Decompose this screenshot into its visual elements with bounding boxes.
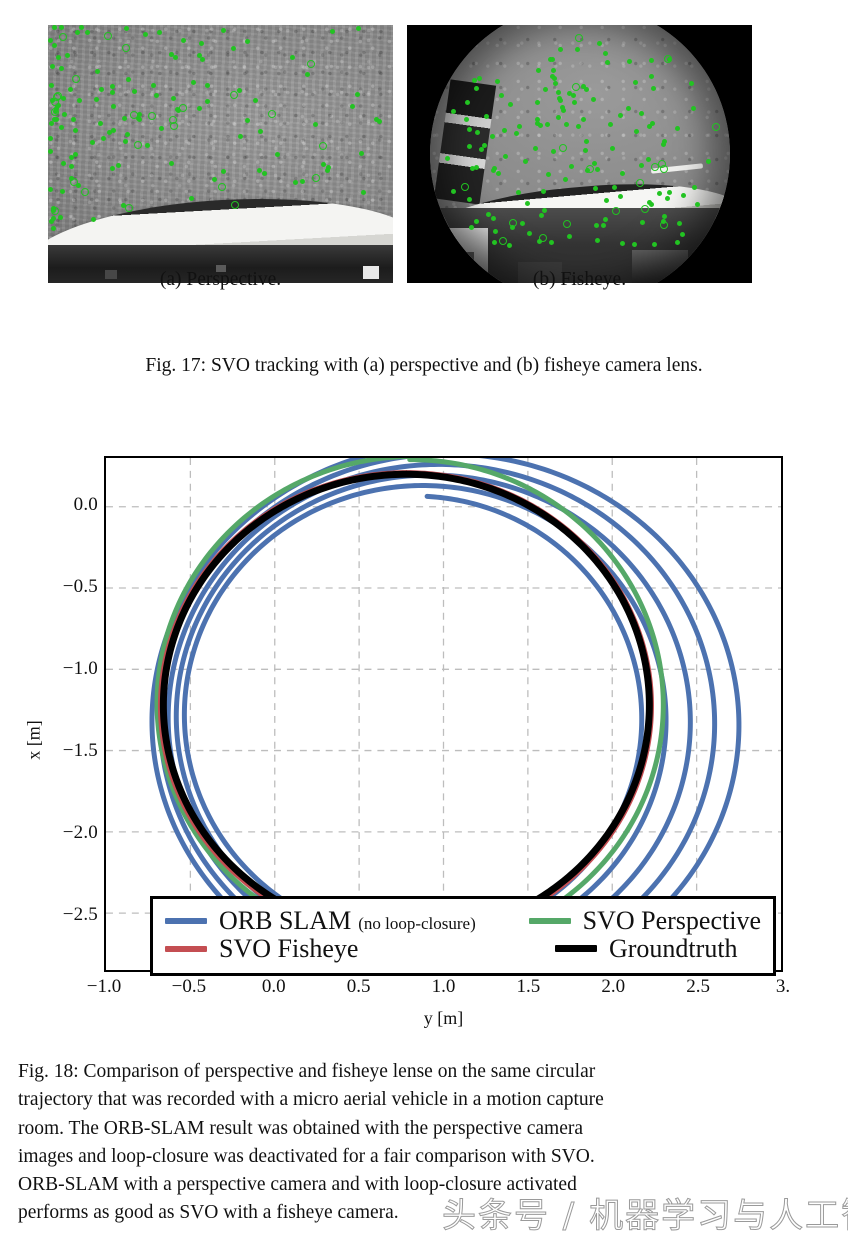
feature-point bbox=[556, 115, 561, 120]
fisheye-camera-image bbox=[407, 25, 752, 283]
feature-point bbox=[571, 93, 576, 98]
feature-point bbox=[469, 225, 474, 230]
feature-point bbox=[253, 98, 258, 103]
y-axis-ticks: 0.0−0.5−1.0−1.5−2.0−2.5 bbox=[0, 456, 98, 972]
feature-point bbox=[584, 87, 589, 92]
feature-point bbox=[499, 237, 507, 245]
feature-point bbox=[545, 122, 550, 127]
legend-label-svo-fisheye: SVO Fisheye bbox=[219, 935, 358, 963]
feature-point bbox=[477, 76, 482, 81]
feature-point bbox=[651, 86, 656, 91]
y-tick-label: −2.0 bbox=[63, 822, 98, 844]
feature-point bbox=[706, 159, 711, 164]
feature-point bbox=[49, 83, 54, 88]
feature-point bbox=[567, 234, 572, 239]
feature-point bbox=[517, 124, 522, 129]
feature-point bbox=[72, 75, 80, 83]
feature-point bbox=[275, 152, 280, 157]
feature-point bbox=[377, 119, 382, 124]
feature-point bbox=[170, 122, 178, 130]
feature-point bbox=[125, 204, 133, 212]
feature-point bbox=[257, 168, 262, 173]
subcaption-b: (b) Fisheye. bbox=[407, 269, 752, 291]
feature-point bbox=[593, 186, 598, 191]
feature-point bbox=[610, 146, 615, 151]
feature-point bbox=[125, 132, 130, 137]
y-tick-label: −1.5 bbox=[63, 740, 98, 762]
feature-point bbox=[104, 32, 112, 40]
feature-point bbox=[641, 205, 649, 213]
feature-point bbox=[646, 157, 651, 162]
y-tick-label: −1.0 bbox=[63, 658, 98, 680]
feature-point bbox=[464, 117, 469, 122]
feature-point bbox=[73, 152, 78, 157]
feature-point bbox=[245, 39, 250, 44]
feature-point bbox=[197, 106, 202, 111]
legend-item-svo-perspective[interactable]: SVO Perspective bbox=[529, 907, 761, 935]
feature-point bbox=[231, 201, 239, 209]
feature-point bbox=[627, 59, 632, 64]
feature-point bbox=[550, 57, 555, 62]
feature-point bbox=[212, 177, 217, 182]
feature-point bbox=[451, 189, 456, 194]
feature-point bbox=[546, 172, 551, 177]
feature-point bbox=[53, 93, 61, 101]
figure-18-caption-line-1: Fig. 18: Comparison of perspective and f… bbox=[18, 1058, 830, 1086]
feature-point bbox=[467, 197, 472, 202]
plot-canvas bbox=[106, 458, 781, 970]
feature-point bbox=[491, 168, 496, 173]
feature-point bbox=[603, 217, 608, 222]
legend-swatch-groundtruth bbox=[555, 945, 597, 952]
feature-point bbox=[94, 97, 99, 102]
feature-point bbox=[527, 231, 532, 236]
feature-point bbox=[542, 208, 547, 213]
legend-row-2: SVO Fisheye Groundtruth bbox=[165, 935, 761, 963]
feature-point bbox=[77, 98, 82, 103]
feature-point bbox=[151, 83, 156, 88]
feature-point bbox=[592, 161, 597, 166]
feature-point bbox=[73, 128, 78, 133]
feature-point bbox=[520, 221, 525, 226]
feature-point bbox=[472, 78, 477, 83]
feature-point bbox=[495, 79, 500, 84]
feature-point bbox=[649, 202, 654, 207]
feature-point bbox=[475, 130, 480, 135]
legend-row-1: ORB SLAM (no loop-closure) SVO Perspecti… bbox=[165, 907, 761, 935]
figure-18-caption-line-2: trajectory that was recorded with a micr… bbox=[18, 1086, 830, 1114]
feature-point bbox=[99, 87, 104, 92]
feature-point bbox=[664, 55, 672, 63]
feature-point bbox=[110, 90, 115, 95]
feature-point bbox=[132, 89, 137, 94]
feature-point bbox=[639, 111, 644, 116]
feature-point bbox=[52, 117, 57, 122]
feature-point bbox=[632, 242, 637, 247]
feature-point bbox=[677, 221, 682, 226]
feature-point bbox=[535, 117, 540, 122]
feature-point bbox=[52, 25, 57, 30]
feature-point bbox=[608, 122, 613, 127]
feature-point bbox=[692, 185, 697, 190]
feature-point bbox=[199, 41, 204, 46]
feature-point bbox=[319, 142, 327, 150]
feature-point bbox=[312, 174, 320, 182]
y-axis-label: x [m] bbox=[23, 720, 44, 760]
legend-swatch-svo-fisheye bbox=[165, 946, 207, 952]
feature-point bbox=[300, 179, 305, 184]
feature-point bbox=[71, 117, 76, 122]
feature-point bbox=[675, 126, 680, 131]
feature-point bbox=[689, 81, 694, 86]
feature-point bbox=[126, 77, 131, 82]
figure-18-caption-line-3: room. The ORB-SLAM result was obtained w… bbox=[18, 1115, 830, 1143]
feature-point bbox=[59, 125, 64, 130]
feature-point bbox=[461, 183, 469, 191]
feature-point bbox=[691, 106, 696, 111]
feature-point bbox=[50, 64, 55, 69]
figure-17: (a) Perspective. (b) Fisheye. Fig. 17: S… bbox=[0, 0, 848, 305]
feature-point bbox=[307, 60, 315, 68]
x-tick-label: −1.0 bbox=[87, 976, 121, 998]
feature-point bbox=[636, 179, 644, 187]
x-tick-label: −0.5 bbox=[172, 976, 206, 998]
feature-point bbox=[563, 177, 568, 182]
feature-point bbox=[90, 140, 95, 145]
feature-point bbox=[502, 128, 507, 133]
series-groundtruth bbox=[163, 474, 649, 936]
feature-point bbox=[148, 112, 156, 120]
feature-point bbox=[583, 148, 588, 153]
fisheye-circular-view bbox=[430, 25, 730, 283]
feature-point bbox=[445, 156, 450, 161]
feature-point bbox=[559, 144, 567, 152]
feature-point bbox=[576, 124, 581, 129]
y-tick-label: 0.0 bbox=[74, 494, 98, 516]
plot-legend: ORB SLAM (no loop-closure) SVO Perspecti… bbox=[150, 896, 776, 976]
figure-17-caption: Fig. 17: SVO tracking with (a) perspecti… bbox=[0, 355, 848, 377]
feature-point bbox=[695, 202, 700, 207]
feature-point bbox=[101, 136, 106, 141]
feature-point bbox=[620, 241, 625, 246]
legend-item-svo-fisheye[interactable]: SVO Fisheye bbox=[165, 935, 555, 963]
feature-point bbox=[486, 212, 491, 217]
feature-point bbox=[595, 167, 600, 172]
feature-point bbox=[293, 180, 298, 185]
feature-point bbox=[137, 112, 142, 117]
feature-point bbox=[712, 123, 720, 131]
trajectory-plot: 0.0−0.5−1.0−1.5−2.0−2.5 −1.0−0.50.00.51.… bbox=[0, 430, 848, 1050]
x-tick-label: 2.0 bbox=[601, 976, 625, 998]
feature-point bbox=[79, 25, 84, 30]
feature-point bbox=[525, 201, 530, 206]
feature-point bbox=[467, 127, 472, 132]
figure-17-image-row bbox=[0, 0, 848, 265]
figure-17-subcaptions: (a) Perspective. (b) Fisheye. bbox=[0, 265, 848, 305]
feature-point bbox=[508, 102, 513, 107]
feature-point bbox=[173, 55, 178, 60]
x-tick-label: 0.5 bbox=[347, 976, 371, 998]
feature-point bbox=[543, 87, 548, 92]
feature-point bbox=[541, 189, 546, 194]
perspective-camera-image bbox=[48, 25, 393, 283]
fisheye-vignette bbox=[430, 25, 730, 283]
page-root: (a) Perspective. (b) Fisheye. Fig. 17: S… bbox=[0, 0, 848, 1242]
feature-point bbox=[359, 151, 364, 156]
x-axis-ticks: −1.0−0.50.00.51.01.52.02.53. bbox=[104, 976, 783, 1006]
x-tick-label: 1.5 bbox=[517, 976, 541, 998]
legend-label-svo-perspective: SVO Perspective bbox=[583, 907, 761, 935]
feature-point bbox=[51, 216, 56, 221]
feature-point bbox=[661, 219, 666, 224]
x-tick-label: 3. bbox=[776, 976, 790, 998]
feature-point bbox=[657, 191, 662, 196]
feature-point bbox=[675, 240, 680, 245]
feature-point bbox=[258, 129, 263, 134]
feature-point bbox=[493, 229, 498, 234]
feature-point bbox=[633, 80, 638, 85]
feature-point bbox=[523, 159, 528, 164]
feature-point bbox=[681, 193, 686, 198]
feature-point bbox=[91, 217, 96, 222]
feature-point bbox=[200, 57, 205, 62]
feature-point bbox=[124, 26, 129, 31]
feature-point bbox=[551, 68, 556, 73]
feature-point bbox=[145, 143, 150, 148]
feature-point bbox=[467, 144, 472, 149]
figure-18: 0.0−0.5−1.0−1.5−2.0−2.5 −1.0−0.50.00.51.… bbox=[0, 430, 848, 1050]
figure-18-caption: Fig. 18: Comparison of perspective and f… bbox=[18, 1058, 830, 1228]
feature-point bbox=[658, 160, 666, 168]
feature-point bbox=[597, 41, 602, 46]
feature-point bbox=[85, 30, 90, 35]
feature-point bbox=[356, 26, 361, 31]
feature-point bbox=[549, 240, 554, 245]
feature-point bbox=[48, 38, 53, 43]
feature-point bbox=[110, 84, 115, 89]
legend-item-orb-slam[interactable]: ORB SLAM (no loop-closure) bbox=[165, 907, 529, 935]
feature-point bbox=[667, 190, 672, 195]
feature-point bbox=[569, 164, 574, 169]
feature-point bbox=[564, 122, 569, 127]
feature-point bbox=[560, 105, 565, 110]
feature-point bbox=[585, 168, 590, 173]
feature-point bbox=[122, 116, 127, 121]
x-axis-label: y [m] bbox=[104, 1008, 783, 1029]
y-tick-label: −2.5 bbox=[63, 904, 98, 926]
figure-18-caption-line-4: images and loop-closure was deactivated … bbox=[18, 1143, 830, 1171]
feature-point bbox=[581, 117, 586, 122]
feature-point bbox=[75, 30, 80, 35]
legend-swatch-orb-slam bbox=[165, 918, 207, 924]
y-tick-label: −0.5 bbox=[63, 576, 98, 598]
feature-point bbox=[60, 189, 65, 194]
feature-point bbox=[62, 112, 67, 117]
figure-18-caption-line-6: performs as good as SVO with a fisheye c… bbox=[18, 1199, 830, 1227]
legend-swatch-svo-perspective bbox=[529, 918, 571, 924]
feature-point bbox=[230, 91, 238, 99]
feature-point bbox=[355, 92, 360, 97]
feature-point bbox=[110, 166, 115, 171]
feature-point bbox=[313, 122, 318, 127]
feature-point bbox=[649, 74, 654, 79]
x-tick-label: 1.0 bbox=[432, 976, 456, 998]
feature-point bbox=[634, 129, 639, 134]
feature-point bbox=[650, 121, 655, 126]
legend-label-groundtruth: Groundtruth bbox=[609, 935, 738, 963]
legend-label-orb-slam: ORB SLAM bbox=[219, 907, 351, 935]
figure-18-caption-line-5: ORB-SLAM with a perspective camera and w… bbox=[18, 1171, 830, 1199]
subcaption-a: (a) Perspective. bbox=[48, 269, 393, 291]
feature-point bbox=[69, 176, 74, 181]
x-tick-label: 2.5 bbox=[686, 976, 710, 998]
x-tick-label: 0.0 bbox=[262, 976, 286, 998]
feature-point bbox=[51, 226, 56, 231]
feature-point bbox=[533, 146, 538, 151]
feature-point bbox=[330, 29, 335, 34]
feature-point bbox=[111, 104, 116, 109]
feature-point bbox=[122, 44, 130, 52]
legend-item-groundtruth[interactable]: Groundtruth bbox=[555, 935, 761, 963]
legend-sublabel-orb-slam: (no loop-closure) bbox=[358, 914, 476, 934]
feature-point bbox=[558, 98, 563, 103]
feature-point bbox=[516, 190, 521, 195]
feature-point bbox=[572, 100, 577, 105]
feature-point bbox=[245, 118, 250, 123]
feature-point bbox=[205, 99, 210, 104]
feature-point bbox=[612, 185, 617, 190]
feature-point bbox=[262, 171, 267, 176]
feature-point bbox=[601, 223, 606, 228]
plot-axes bbox=[104, 456, 783, 972]
feature-point bbox=[137, 117, 142, 122]
feature-point bbox=[492, 240, 497, 245]
feature-point bbox=[509, 219, 517, 227]
